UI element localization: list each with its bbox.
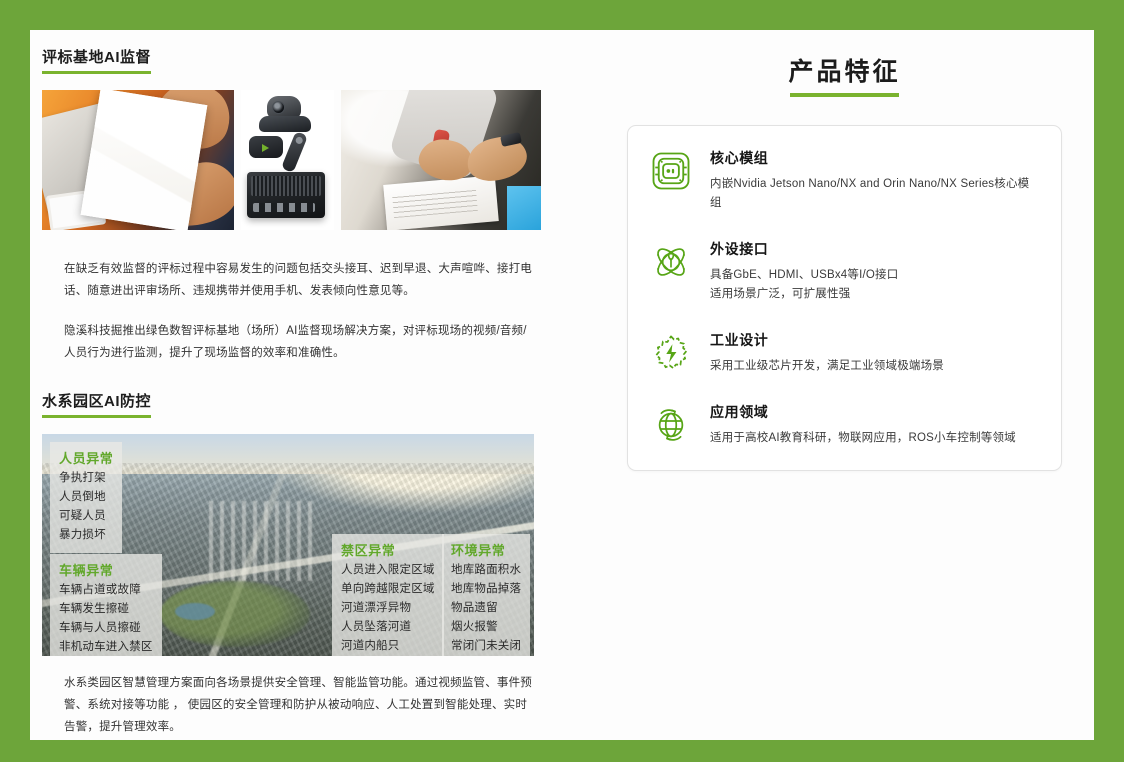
feature-item-application-field: 应用领域 适用于高校AI教育科研，物联网应用，ROS小车控制等领域 — [650, 402, 1039, 448]
feature-heading: 外设接口 — [710, 239, 1039, 259]
feature-item-core-module: 核心模组 内嵌Nvidia Jetson Nano/NX and Orin Na… — [650, 148, 1039, 213]
slide-frame: 评标基地AI监督 — [0, 0, 1124, 762]
page-title: 产品特征 — [788, 52, 900, 97]
feature-item-industrial-design: 工业设计 采用工业级芯片开发，满足工业领域极端场景 — [650, 330, 1039, 376]
hand-shape — [148, 90, 234, 158]
overlay-forbidden-zone-anomaly: 禁区异常 人员进入限定区域 单向跨越限定区域 河道漂浮异物 人员坠落河道 河道内… — [332, 534, 444, 656]
peripheral-interface-icon — [650, 241, 692, 283]
overlay-heading: 禁区异常 — [341, 540, 435, 559]
aerial-city-photo: 人员异常 争执打架 人员倒地 可疑人员 暴力损坏 车辆异常 车辆占道或故障 车辆… — [42, 434, 534, 656]
feature-heading: 工业设计 — [710, 330, 1039, 350]
feature-desc-line: 具备GbE、HDMI、USBx4等I/O接口 — [710, 266, 1039, 285]
feature-desc-line: 采用工业级芯片开发，满足工业领域极端场景 — [710, 357, 1039, 376]
core-module-icon — [650, 150, 692, 192]
feature-desc-line: 适用场景广泛，可扩展性强 — [710, 285, 1039, 304]
overlay-environment-anomaly: 环境异常 地库路面积水 地库物品掉落 物品遗留 烟火报警 常闭门未关闭 — [442, 534, 530, 656]
camera-base-shape — [259, 116, 311, 132]
overlay-item: 车辆占道或故障 — [59, 581, 153, 600]
overlay-item: 地库物品掉落 — [451, 580, 521, 599]
paragraph-water-park-solution: 水系类园区智慧管理方案面向各场景提供安全管理、智能监管功能。通过视频监管、事件预… — [64, 672, 538, 738]
overlay-item: 河道内船只 — [341, 637, 435, 656]
conference-mic-shape — [249, 136, 283, 158]
photo-av-equipment — [241, 90, 334, 230]
page-canvas: 评标基地AI监督 — [30, 30, 1094, 740]
feature-text: 应用领域 适用于高校AI教育科研，物联网应用，ROS小车控制等领域 — [710, 402, 1039, 448]
feature-desc-line: 适用于高校AI教育科研，物联网应用，ROS小车控制等领域 — [710, 429, 1039, 448]
section-title-water-park: 水系园区AI防控 — [42, 390, 151, 418]
overlay-item: 非机动车进入禁区 — [59, 638, 153, 656]
feature-text: 工业设计 采用工业级芯片开发，满足工业领域极端场景 — [710, 330, 1039, 376]
overlay-item: 争执打架 — [59, 469, 113, 488]
feature-heading: 应用领域 — [710, 402, 1039, 422]
overlay-item: 人员进入限定区域 — [341, 561, 435, 580]
right-column: 产品特征 — [595, 30, 1094, 740]
overlay-item: 暴力损坏 — [59, 526, 113, 545]
overlay-item: 常闭门未关闭 — [451, 637, 521, 656]
overlay-item: 可疑人员 — [59, 507, 113, 526]
overlay-heading: 车辆异常 — [59, 560, 153, 579]
overlay-item: 烟火报警 — [451, 618, 521, 637]
overlay-item: 车辆与人员擦碰 — [59, 619, 153, 638]
paragraph-supervision-solution: 隐溪科技掘推出绿色数智评标基地（场所）AI监督现场解决方案，对评标现场的视频/音… — [64, 320, 538, 364]
overlay-heading: 人员异常 — [59, 448, 113, 467]
overlay-item: 车辆发生擦碰 — [59, 600, 153, 619]
photo-strip — [42, 90, 534, 230]
hand-shape — [154, 155, 234, 230]
overlay-item: 河道漂浮异物 — [341, 599, 435, 618]
photo-document-review — [42, 90, 234, 230]
tablet-shape — [46, 188, 106, 230]
feature-panel: 核心模组 内嵌Nvidia Jetson Nano/NX and Orin Na… — [627, 125, 1062, 471]
overlay-vehicle-anomaly: 车辆异常 车辆占道或故障 车辆发生擦碰 车辆与人员擦碰 非机动车进入禁区 — [50, 554, 162, 656]
blue-folder-shape — [507, 186, 541, 230]
left-column: 评标基地AI监督 — [30, 30, 595, 740]
overlay-item: 地库路面积水 — [451, 561, 521, 580]
feature-text: 核心模组 内嵌Nvidia Jetson Nano/NX and Orin Na… — [710, 148, 1039, 213]
section-title-ai-supervision: 评标基地AI监督 — [42, 46, 151, 74]
application-field-icon — [650, 404, 692, 446]
overlay-item: 人员坠落河道 — [341, 618, 435, 637]
overlay-item: 人员倒地 — [59, 488, 113, 507]
photo-document-stamping — [341, 90, 541, 230]
remote-control-shape — [281, 131, 308, 173]
feature-text: 外设接口 具备GbE、HDMI、USBx4等I/O接口 适用场景广泛，可扩展性强 — [710, 239, 1039, 304]
overlay-item: 物品遗留 — [451, 599, 521, 618]
industrial-pc-shape — [247, 172, 325, 218]
page-title-wrap: 产品特征 — [627, 52, 1062, 97]
overlay-people-anomaly: 人员异常 争执打架 人员倒地 可疑人员 暴力损坏 — [50, 442, 122, 553]
feature-item-peripheral-interface: 外设接口 具备GbE、HDMI、USBx4等I/O接口 适用场景广泛，可扩展性强 — [650, 239, 1039, 304]
camera-lens-shape — [272, 101, 285, 114]
paper-shape — [383, 175, 499, 230]
feature-desc-line: 内嵌Nvidia Jetson Nano/NX and Orin Nano/NX… — [710, 175, 1039, 213]
feature-heading: 核心模组 — [710, 148, 1039, 168]
overlay-item: 单向跨越限定区域 — [341, 580, 435, 599]
paragraph-supervision-problems: 在缺乏有效监督的评标过程中容易发生的问题包括交头接耳、迟到早退、大声喧哗、接打电… — [64, 258, 538, 302]
overlay-heading: 环境异常 — [451, 540, 521, 559]
industrial-design-icon — [650, 332, 692, 374]
